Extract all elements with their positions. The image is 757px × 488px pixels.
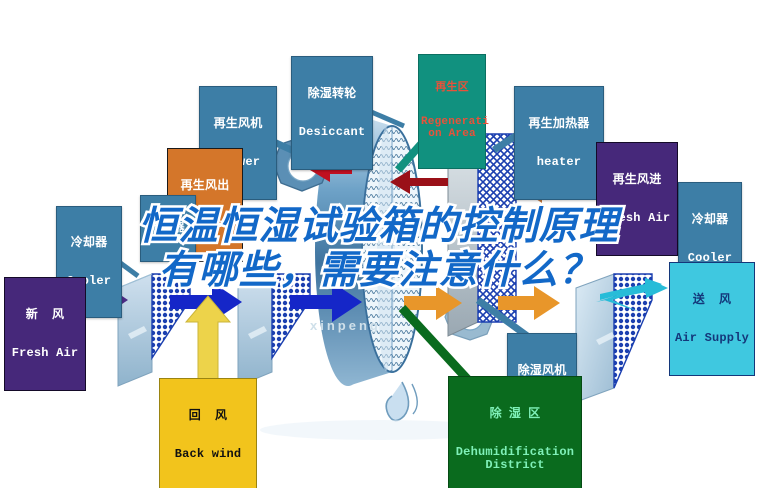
label-desiccant-rotor-en: Desiccant	[294, 126, 370, 139]
label-dehumidification-area: 除 湿 区 Dehumidification District	[448, 376, 582, 488]
label-cooler-left-2-cn: 冷却器	[143, 223, 193, 235]
label-cooler-left-2: 冷却器	[140, 195, 196, 262]
label-regeneration-heater: 再生加热器 heater	[514, 86, 604, 200]
label-back-wind-cn: 回 风	[162, 409, 254, 422]
label-regeneration-area-cn: 再生区	[421, 82, 483, 94]
label-desiccant-rotor: 除湿转轮 Desiccant	[291, 56, 373, 170]
label-cooler-left-1-cn: 冷却器	[59, 236, 119, 249]
label-back-wind: 回 风 Back wind	[159, 378, 257, 488]
label-air-supply-cn: 送 风	[672, 293, 752, 306]
label-air-supply: 送 风 Air Supply	[669, 262, 755, 376]
label-dehumidification-area-en: Dehumidification District	[451, 446, 579, 472]
dehumidifier-schematic-image: xinpeng 除湿转轮 Desiccant 再生风机 Blower 再生区 R…	[0, 0, 757, 488]
cooling-coil-2-graphic	[238, 274, 310, 386]
label-regeneration-area-en: Regenerati on Area	[421, 117, 483, 141]
label-regeneration-air-in: 再生风进 Fresh Air	[596, 142, 678, 256]
label-regeneration-heater-en: heater	[517, 156, 601, 169]
label-cooler-right-cn: 冷却器	[681, 213, 739, 226]
label-dehumidification-blower-cn: 除湿风机	[510, 364, 574, 377]
label-regeneration-air-in-en: Fresh Air	[599, 212, 675, 225]
label-fresh-air-in-cn: 新 风	[7, 308, 83, 321]
label-desiccant-rotor-cn: 除湿转轮	[294, 87, 370, 100]
label-regeneration-heater-cn: 再生加热器	[517, 117, 601, 130]
cooling-coil-1-graphic	[118, 274, 190, 386]
label-regeneration-area: 再生区 Regenerati on Area	[418, 54, 486, 169]
label-dehumidification-area-cn: 除 湿 区	[451, 407, 579, 420]
label-fresh-air-in: 新 风 Fresh Air	[4, 277, 86, 391]
label-fresh-air-in-en: Fresh Air	[7, 347, 83, 360]
label-regeneration-blower-cn: 再生风机	[202, 117, 274, 130]
label-air-supply-en: Air Supply	[672, 332, 752, 345]
watermark: xinpeng	[310, 318, 381, 333]
label-exhaust-cn: 再生风出	[170, 179, 240, 192]
label-back-wind-en: Back wind	[162, 448, 254, 461]
label-regeneration-air-in-cn: 再生风进	[599, 173, 675, 186]
